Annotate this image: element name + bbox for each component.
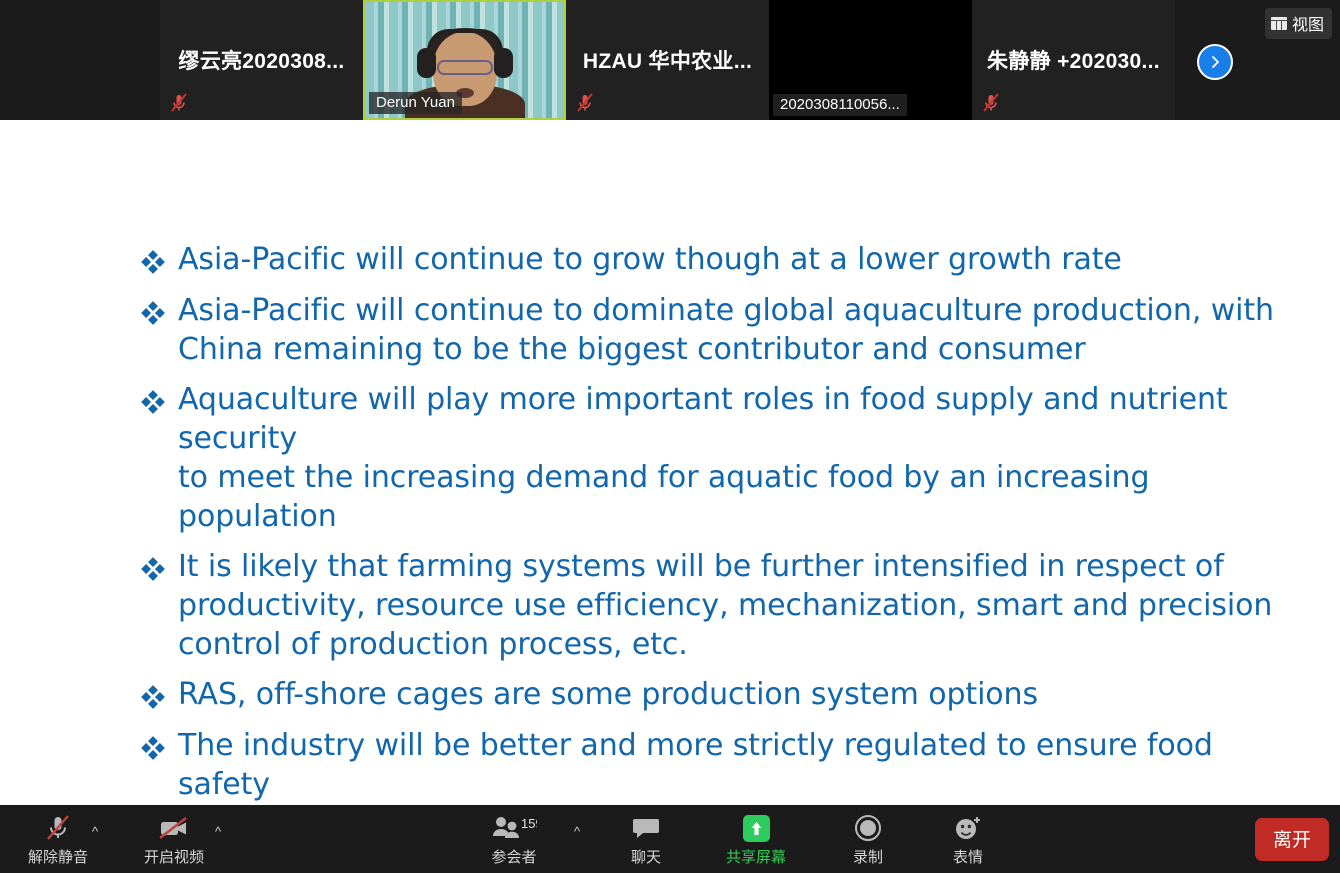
reactions-button-label: 表情 — [953, 846, 983, 867]
participants-button[interactable]: 159 参会者 — [472, 813, 556, 867]
share-screen-button-label: 共享屏幕 — [726, 846, 786, 867]
leave-meeting-button[interactable]: 离开 — [1255, 818, 1329, 861]
slide-bullet-list: Asia-Pacific will continue to grow thoug… — [140, 240, 1290, 854]
zoom-meeting-window: 缪云亮2020308... De — [0, 0, 1340, 873]
bullet-text: Asia-Pacific will continue to dominate g… — [178, 291, 1274, 369]
participants-icon: 159 — [491, 813, 537, 843]
record-button[interactable]: 录制 — [826, 813, 910, 867]
participant-tile-3[interactable]: 2020308110056... — [769, 0, 972, 120]
bullet-text: Asia-Pacific will continue to grow thoug… — [178, 240, 1122, 279]
participant-name-1: Derun Yuan — [369, 92, 462, 114]
smiley-plus-icon — [953, 813, 983, 843]
bullet-text: Aquaculture will play more important rol… — [178, 380, 1290, 536]
diamond-bullet-icon — [140, 380, 178, 420]
bullet-item: Asia-Pacific will continue to dominate g… — [140, 291, 1290, 369]
participants-button-label: 参会者 — [491, 846, 536, 867]
mute-button-label: 解除静音 — [28, 846, 88, 867]
bullet-text: RAS, off-shore cages are some production… — [178, 675, 1038, 714]
chat-button-label: 聊天 — [631, 846, 661, 867]
diamond-bullet-icon — [140, 240, 178, 280]
reactions-button[interactable]: 表情 — [926, 813, 1010, 867]
participant-name-0: 缪云亮2020308... — [160, 0, 363, 120]
bullet-item: Aquaculture will play more important rol… — [140, 380, 1290, 536]
participant-tile-2[interactable]: HZAU 华中农业... — [566, 0, 769, 120]
participant-tile-1-active-speaker[interactable]: Derun Yuan — [363, 0, 566, 120]
share-screen-button[interactable]: 共享屏幕 — [714, 813, 798, 867]
bullet-item: It is likely that farming systems will b… — [140, 547, 1290, 664]
view-button[interactable]: 视图 — [1265, 8, 1332, 39]
mute-icon — [168, 92, 190, 114]
participant-tile-0[interactable]: 缪云亮2020308... — [160, 0, 363, 120]
diamond-bullet-icon — [140, 675, 178, 715]
chevron-right-icon — [1197, 44, 1233, 80]
grid-view-icon — [1271, 17, 1287, 30]
camera-off-icon — [157, 813, 191, 843]
mute-options-caret[interactable]: ^ — [92, 825, 98, 838]
chat-bubble-icon — [631, 813, 661, 843]
participant-name-4: 朱静静 +202030... — [972, 0, 1175, 120]
filmstrip-next-button[interactable] — [1197, 44, 1233, 80]
chat-button[interactable]: 聊天 — [604, 813, 688, 867]
diamond-bullet-icon — [140, 547, 178, 587]
record-button-label: 录制 — [853, 846, 883, 867]
start-video-button[interactable]: 开启视频 — [132, 813, 216, 867]
filmstrip-spacer-left — [0, 0, 160, 120]
participant-name-2: HZAU 华中农业... — [566, 0, 769, 120]
share-screen-icon — [743, 813, 770, 843]
bullet-item: RAS, off-shore cages are some production… — [140, 675, 1290, 715]
shared-slide: Asia-Pacific will continue to grow thoug… — [0, 120, 1340, 805]
view-button-label: 视图 — [1292, 11, 1324, 35]
mute-icon — [980, 92, 1002, 114]
start-video-button-label: 开启视频 — [144, 846, 204, 867]
bullet-item: Asia-Pacific will continue to grow thoug… — [140, 240, 1290, 280]
participant-tile-4[interactable]: 朱静静 +202030... — [972, 0, 1175, 120]
participant-name-3: 2020308110056... — [773, 94, 907, 116]
mute-button[interactable]: 解除静音 — [16, 813, 100, 867]
diamond-bullet-icon — [140, 726, 178, 766]
diamond-bullet-icon — [140, 291, 178, 331]
bullet-text: It is likely that farming systems will b… — [178, 547, 1272, 664]
participants-count: 159 — [521, 816, 537, 831]
participant-filmstrip: 缪云亮2020308... De — [0, 0, 1340, 120]
video-options-caret[interactable]: ^ — [215, 825, 221, 838]
meeting-toolbar: 解除静音 ^ 开启视频 ^ 159 — [0, 805, 1340, 873]
record-circle-icon — [854, 813, 882, 843]
microphone-muted-icon — [43, 813, 73, 843]
mute-icon — [574, 92, 596, 114]
participants-options-caret[interactable]: ^ — [574, 825, 580, 838]
